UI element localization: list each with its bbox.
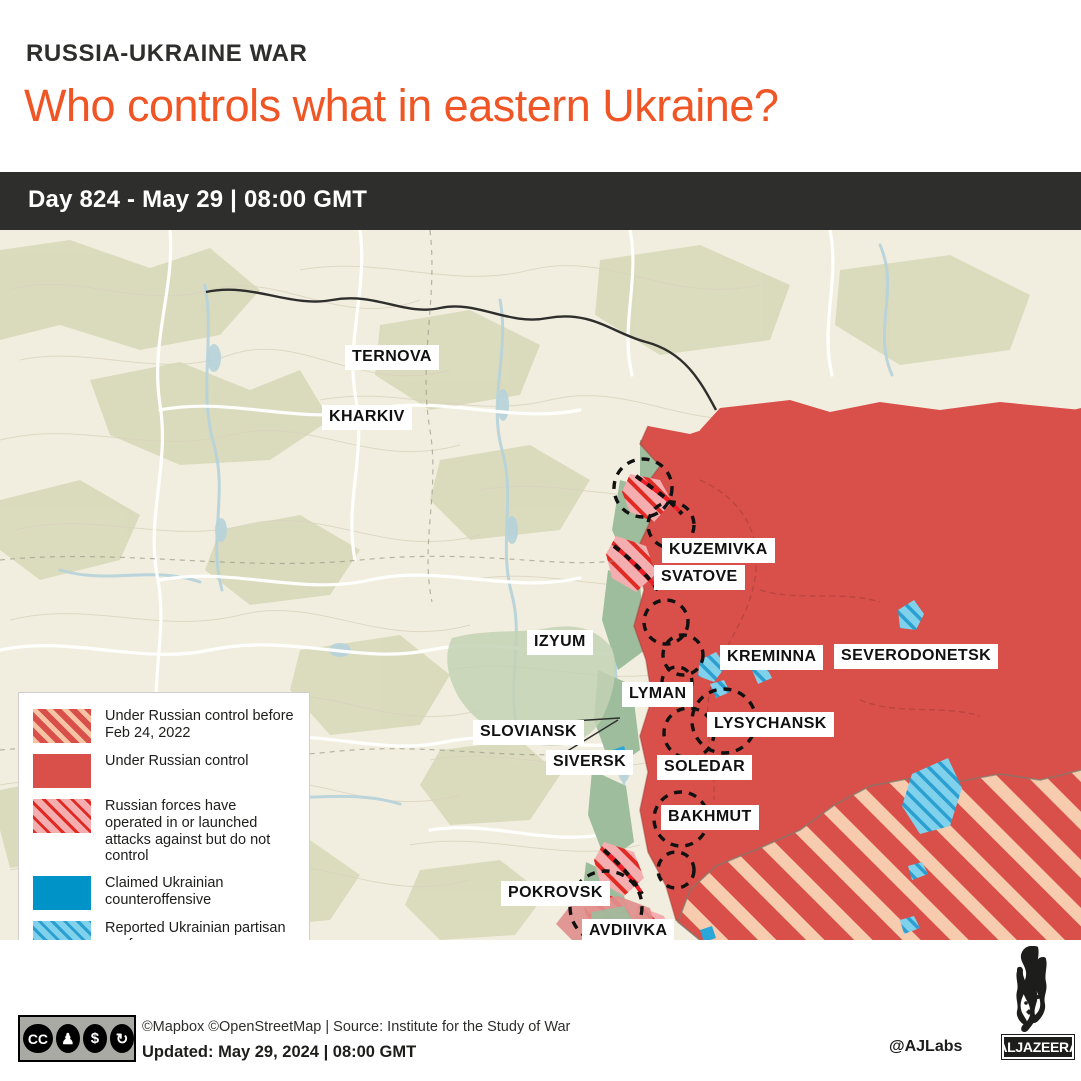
legend-row-under-control: Under Russian control	[33, 752, 297, 788]
updated-timestamp: Updated: May 29, 2024 | 08:00 GMT	[142, 1043, 416, 1062]
ajlabs-handle: @AJLabs	[889, 1038, 962, 1056]
red-hatch-swatch	[33, 709, 91, 743]
legend-label-operated-not-control: Russian forces have operated in or launc…	[105, 797, 297, 865]
day-status-text: Day 824 - May 29 | 08:00 GMT	[28, 186, 367, 214]
legend-label-counteroffensive: Claimed Ukrainian counteroffensive	[105, 874, 297, 909]
city-label-sloviansk: SLOVIANSK	[473, 720, 584, 745]
legend-swatch-wrap	[33, 874, 105, 910]
map-canvas[interactable]: TERNOVA KHARKIV KUZEMIVKA SVATOVE IZYUM …	[0, 230, 1081, 940]
source-attribution: ©Mapbox ©OpenStreetMap | Source: Institu…	[142, 1019, 570, 1035]
sa-icon: ↻SA	[110, 1024, 134, 1053]
legend-row-counteroffensive: Claimed Ukrainian counteroffensive	[33, 874, 297, 910]
page-header: RUSSIA-UKRAINE WAR Who controls what in …	[0, 0, 1081, 172]
city-label-izyum: IZYUM	[527, 630, 593, 655]
blue-swatch	[33, 876, 91, 910]
city-label-svatove: SVATOVE	[654, 565, 745, 590]
legend-swatch-wrap	[33, 919, 105, 940]
city-label-avdiivka: AVDIIVKA	[582, 919, 674, 940]
day-status-bar: Day 824 - May 29 | 08:00 GMT	[0, 172, 1081, 230]
red-swatch	[33, 754, 91, 788]
blue-hatch-swatch	[33, 921, 91, 940]
kicker-label: RUSSIA-UKRAINE WAR	[26, 40, 307, 68]
legend-label-pre-feb-2022: Under Russian control before Feb 24, 202…	[105, 707, 297, 742]
city-label-soledar: SOLEDAR	[657, 755, 752, 780]
city-label-lysychansk: LYSYCHANSK	[707, 712, 834, 737]
city-label-siversk: SIVERSK	[546, 750, 633, 775]
al-jazeera-logo-icon	[1002, 945, 1064, 1037]
legend-swatch-wrap	[33, 797, 105, 833]
map-legend: Under Russian control before Feb 24, 202…	[18, 692, 310, 940]
legend-row-operated-not-control: Russian forces have operated in or launc…	[33, 797, 297, 865]
nc-icon: $NC	[83, 1024, 107, 1053]
city-label-ternova: TERNOVA	[345, 345, 439, 370]
legend-swatch-wrap	[33, 707, 105, 743]
legend-row-partisan: Reported Ukrainian partisan warfare	[33, 919, 297, 940]
city-label-lyman: LYMAN	[622, 682, 693, 707]
city-label-severodonetsk: SEVERODONETSK	[834, 644, 998, 669]
legend-swatch-wrap	[33, 752, 105, 788]
city-label-bakhmut: BAKHMUT	[661, 805, 759, 830]
legend-row-pre-feb-2022: Under Russian control before Feb 24, 202…	[33, 707, 297, 743]
cc-by-nc-sa-badge: CC ♟BY $NC ↻SA	[18, 1015, 136, 1062]
page-title: Who controls what in eastern Ukraine?	[24, 80, 778, 132]
legend-label-partisan: Reported Ukrainian partisan warfare	[105, 919, 297, 940]
by-icon: ♟BY	[56, 1024, 80, 1053]
city-label-kharkiv: KHARKIV	[322, 405, 412, 430]
legend-label-under-control: Under Russian control	[105, 752, 248, 770]
pink-hatch-swatch	[33, 799, 91, 833]
city-label-kreminna: KREMINNA	[720, 645, 823, 670]
city-label-kuzemivka: KUZEMIVKA	[662, 538, 775, 563]
al-jazeera-wordmark: ALJAZEERA	[1002, 1035, 1074, 1059]
cc-icon: CC	[23, 1024, 53, 1053]
city-label-pokrovsk: POKROVSK	[501, 881, 610, 906]
